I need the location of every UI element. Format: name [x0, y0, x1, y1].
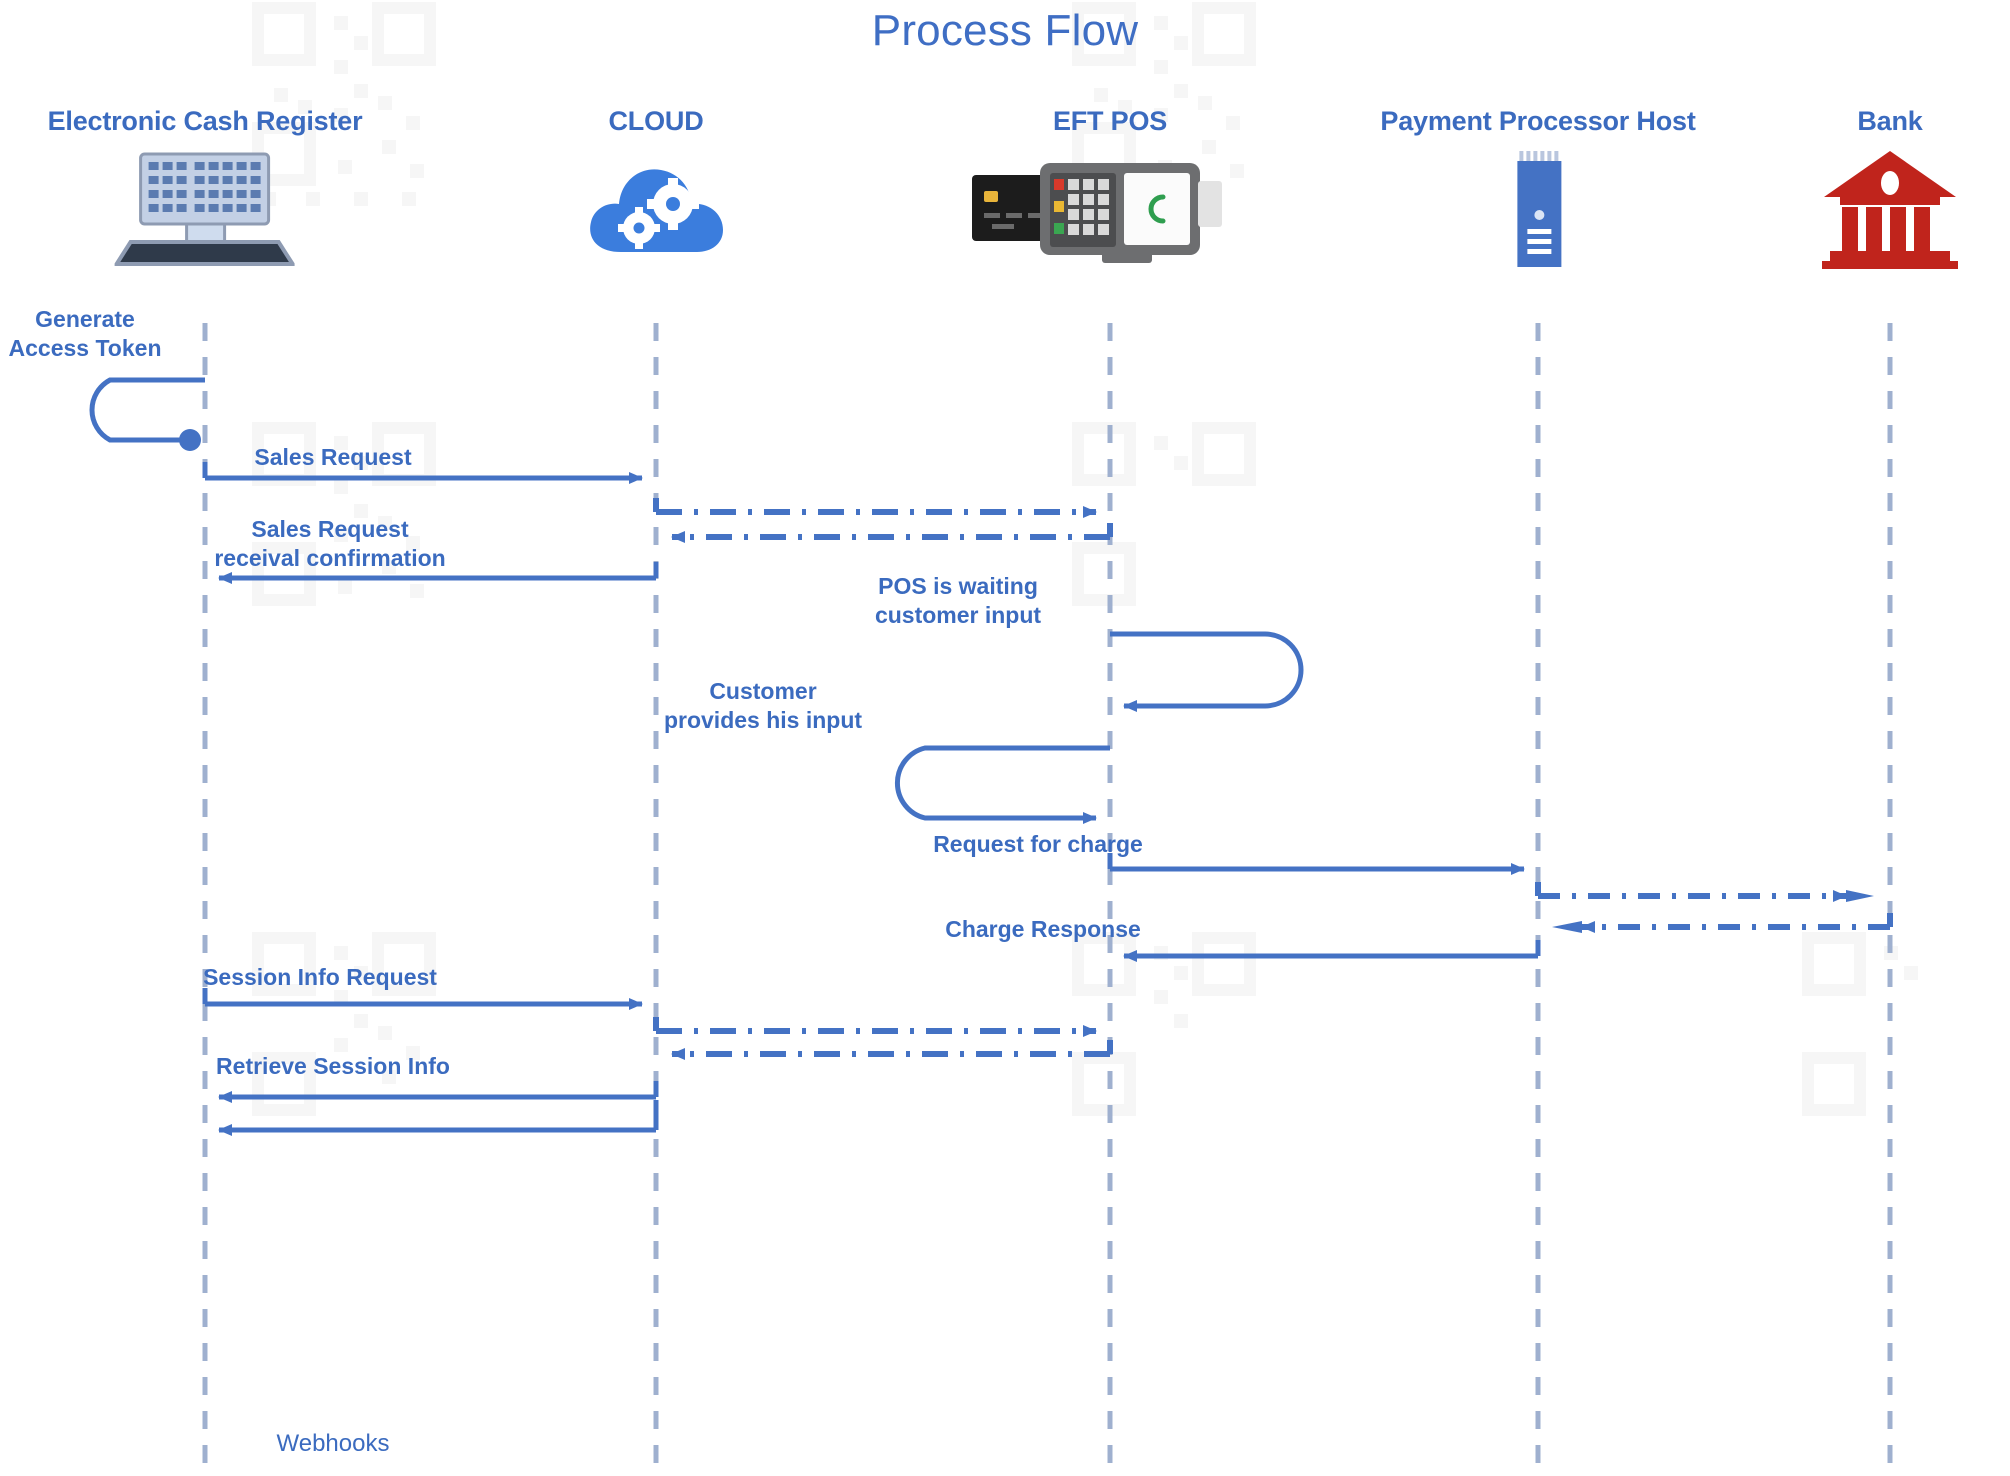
bank-building-icon	[1820, 149, 1960, 269]
watermark-qr-icon	[1070, 420, 1270, 640]
actor-label: CLOUD	[581, 106, 731, 137]
arrow-customer-provides-input	[897, 748, 1110, 818]
actor-label: Electronic Cash Register	[48, 106, 363, 137]
message-label-generate-access-token: Generate Access Token	[9, 305, 162, 364]
message-label-sales-request: Sales Request	[254, 443, 411, 472]
arrow-charge-response	[1124, 940, 1538, 956]
arrow-webhooks	[219, 1100, 656, 1130]
message-label-pos-waiting-input: POS is waiting customer input	[875, 572, 1041, 631]
server-rack-icon	[1380, 149, 1695, 269]
message-label-session-info-request: Session Info Request	[203, 963, 437, 992]
arrow-charge-to-bank	[1538, 882, 1874, 902]
self-message-dot	[179, 429, 201, 451]
arrow-session-info-relay-ack	[672, 1040, 1110, 1054]
arrow-retrieve-session-info	[219, 1081, 656, 1097]
lifelines	[205, 323, 1890, 1476]
process-flow-diagram: Process Flow Electronic Cash Register	[0, 0, 2010, 1476]
message-label-retrieve-session-info: Retrieve Session Info	[216, 1052, 450, 1081]
arrow-sales-request-relay	[656, 498, 1096, 512]
actor-payment-processor-host: Payment Processor Host	[1380, 106, 1695, 269]
arrow-bank-response	[1552, 913, 1890, 933]
desktop-computer-icon	[48, 149, 363, 269]
actor-label: Payment Processor Host	[1380, 106, 1695, 137]
actor-label: Bank	[1820, 106, 1960, 137]
message-label-customer-provides-input: Customer provides his input	[664, 677, 862, 736]
page-title: Process Flow	[0, 6, 2010, 56]
arrow-generate-access-token	[92, 380, 205, 451]
watermark-qr-icon	[1070, 930, 1270, 1150]
actor-bank: Bank	[1820, 106, 1960, 269]
arrow-session-info-relay	[656, 1017, 1096, 1031]
message-label-sales-request-confirm: Sales Request receival confirmation	[214, 515, 445, 574]
cloud-gears-icon	[581, 149, 731, 269]
actor-eft-pos: EFT POS	[970, 106, 1250, 269]
message-label-charge-response: Charge Response	[945, 915, 1141, 944]
arrow-sales-request-relay-ack	[672, 523, 1110, 537]
actor-electronic-cash-register: Electronic Cash Register	[48, 106, 363, 269]
card-terminal-icon	[970, 149, 1250, 269]
actor-cloud: CLOUD	[581, 106, 731, 269]
watermark-qr-icon	[1800, 930, 2000, 1150]
message-label-webhooks: Webhooks	[277, 1429, 390, 1460]
arrow-pos-waiting-customer-input	[1110, 634, 1301, 706]
message-label-request-for-charge: Request for charge	[933, 830, 1143, 859]
arrow-request-for-charge	[1110, 853, 1524, 869]
actor-label: EFT POS	[970, 106, 1250, 137]
